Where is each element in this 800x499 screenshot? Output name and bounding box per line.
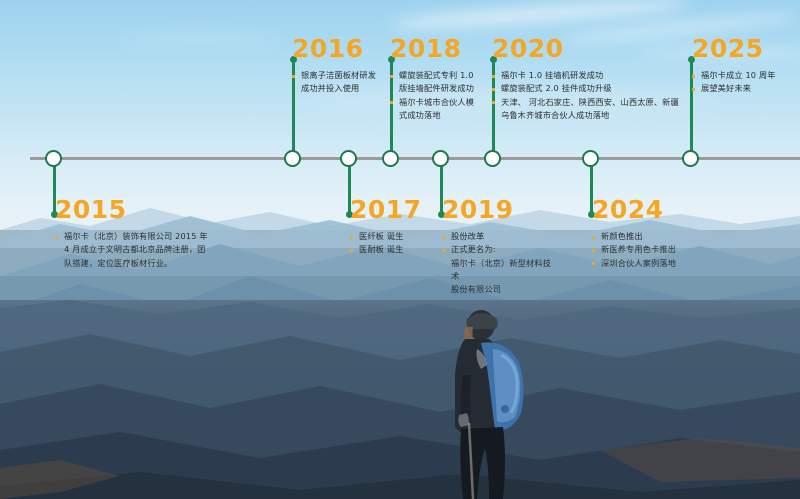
milestone-2017[interactable]: 2017 医纤板 诞生 医耐板 诞生 [350,197,432,257]
timeline-infographic: 2016 银离子洁菌板材研发 成功并投入使用 2018 螺旋装配式专利 1.0 … [0,0,800,499]
milestone-line: 展望美好未来 [692,82,792,95]
milestone-line: 深圳合伙人案例落地 [592,257,712,270]
milestone-line: 股份改革 [442,230,552,243]
milestone-2015[interactable]: 2015 福尔卡（北京）装饰有限公司 2015 年 4 月成立于文明古都北京品牌… [55,197,230,270]
milestone-line: 福尔卡 1.0 挂墙机研发成功 [492,69,697,82]
timeline-node-2025[interactable] [682,150,699,167]
milestone-bullets-2017: 医纤板 诞生 医耐板 诞生 [350,230,432,257]
milestone-2024[interactable]: 2024 新颜色推出 新医养专用色卡推出 深圳合伙人案例落地 [592,197,712,270]
milestone-line: 福尔卡成立 10 周年 [692,69,792,82]
milestone-2019[interactable]: 2019 股份改革 正式更名为: 福尔卡（北京）新型材料技术 股份有限公司 [442,197,552,296]
milestone-year-2015: 2015 [55,197,230,222]
milestone-bullets-2019: 股份改革 正式更名为: 福尔卡（北京）新型材料技术 股份有限公司 [442,230,552,296]
milestone-bullets-2018: 螺旋装配式专利 1.0 版挂墙配件研发成功 福尔卡城市合伙人模 式成功落地 [390,69,490,122]
milestone-line: 医纤板 诞生 [350,230,432,243]
milestone-line: 股份有限公司 [442,283,552,296]
milestone-line: 队搭建，定位医疗板材行业。 [55,257,230,270]
valley-photo-area [0,300,800,499]
timeline-node-2015[interactable] [45,150,62,167]
milestone-line: 式成功落地 [390,109,490,122]
milestone-2025[interactable]: 2025 福尔卡成立 10 周年 展望美好未来 [692,36,792,96]
milestone-bullets-2015: 福尔卡（北京）装饰有限公司 2015 年 4 月成立于文明古都北京品牌注册，团 … [55,230,230,270]
milestone-year-2019: 2019 [442,197,552,222]
milestone-line: 螺旋装配式专利 1.0 [390,69,490,82]
milestone-bullets-2016: 银离子洁菌板材研发 成功并投入使用 [292,69,387,96]
timeline-node-2016[interactable] [284,150,301,167]
milestone-line: 福尔卡（北京）装饰有限公司 2015 年 [55,230,230,243]
milestone-line: 成功并投入使用 [292,82,387,95]
milestone-line: 螺旋装配式 2.0 挂件成功升级 [492,82,697,95]
milestone-line: 正式更名为: [442,243,552,256]
milestone-line: 新颜色推出 [592,230,712,243]
milestone-line: 新医养专用色卡推出 [592,243,712,256]
milestone-line: 乌鲁木齐城市合伙人成功落地 [492,109,697,122]
milestone-line: 版挂墙配件研发成功 [390,82,490,95]
milestone-2020[interactable]: 2020 福尔卡 1.0 挂墙机研发成功 螺旋装配式 2.0 挂件成功升级 天津… [492,36,697,122]
milestone-bullets-2024: 新颜色推出 新医养专用色卡推出 深圳合伙人案例落地 [592,230,712,270]
milestone-year-2024: 2024 [592,197,712,222]
timeline-node-2020[interactable] [484,150,501,167]
milestone-line: 福尔卡（北京）新型材料技术 [442,257,552,284]
milestone-line: 天津、 河北石家庄、陕西西安、山西太原、新疆 [492,96,697,109]
milestone-line: 医耐板 诞生 [350,243,432,256]
hiker-figure [415,305,555,499]
milestone-line: 4 月成立于文明古都北京品牌注册，团 [55,243,230,256]
milestone-year-2020: 2020 [492,36,697,61]
timeline-node-2024[interactable] [582,150,599,167]
milestone-year-2018: 2018 [390,36,490,61]
milestone-year-2016: 2016 [292,36,387,61]
milestone-line: 福尔卡城市合伙人模 [390,96,490,109]
milestone-bullets-2025: 福尔卡成立 10 周年 展望美好未来 [692,69,792,96]
timeline-node-2017[interactable] [340,150,357,167]
timeline-node-2018[interactable] [382,150,399,167]
milestone-bullets-2020: 福尔卡 1.0 挂墙机研发成功 螺旋装配式 2.0 挂件成功升级 天津、 河北石… [492,69,697,122]
milestone-year-2025: 2025 [692,36,792,61]
timeline-node-2019[interactable] [432,150,449,167]
milestone-2018[interactable]: 2018 螺旋装配式专利 1.0 版挂墙配件研发成功 福尔卡城市合伙人模 式成功… [390,36,490,122]
milestone-line: 银离子洁菌板材研发 [292,69,387,82]
milestone-2016[interactable]: 2016 银离子洁菌板材研发 成功并投入使用 [292,36,387,96]
milestone-year-2017: 2017 [350,197,432,222]
cloud-shape [120,34,280,43]
